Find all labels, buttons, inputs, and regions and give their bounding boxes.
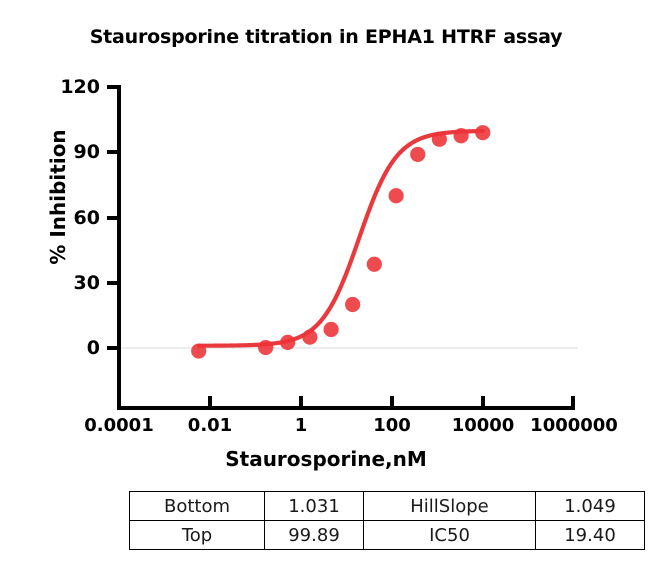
x-tick-1	[299, 396, 303, 407]
x-ticklabel-0.0001: 0.0001	[84, 415, 153, 436]
x-ticklabel-1000000: 1000000	[530, 415, 618, 436]
param-value-bottom: 1.031	[265, 492, 364, 521]
x-ticklabel-1: 1	[295, 415, 308, 436]
x-tick-0.0001	[117, 396, 121, 407]
data-point	[367, 257, 382, 272]
data-point	[454, 128, 469, 143]
y-tick-60	[107, 216, 117, 220]
x-tick-100	[390, 396, 394, 407]
y-tick-30	[107, 281, 117, 285]
fit-parameter-table: Bottom 1.031 HillSlope 1.049 Top 99.89 I…	[129, 491, 645, 550]
x-tick-10000	[481, 396, 485, 407]
param-name-bottom: Bottom	[130, 492, 265, 521]
y-axis-spine	[117, 85, 121, 410]
data-point-group	[191, 125, 490, 359]
table-row: Bottom 1.031 HillSlope 1.049	[130, 492, 645, 521]
x-ticklabel-0.01: 0.01	[188, 415, 232, 436]
data-point	[191, 343, 206, 358]
param-value-hillslope: 1.049	[536, 492, 645, 521]
fit-curve	[199, 131, 483, 346]
x-ticklabel-10000: 10000	[452, 415, 515, 436]
y-tick-120	[107, 85, 117, 89]
data-point	[432, 132, 447, 147]
data-point	[345, 297, 360, 312]
chart-title: Staurosporine titration in EPHA1 HTRF as…	[0, 26, 652, 48]
data-point	[302, 330, 317, 345]
y-axis-title: % Inhibition	[46, 87, 70, 307]
param-name-hillslope: HillSlope	[364, 492, 536, 521]
x-axis-title: Staurosporine,nM	[0, 447, 652, 471]
x-ticklabel-100: 100	[373, 415, 411, 436]
param-value-ic50: 19.40	[536, 521, 645, 550]
x-tick-1000000	[571, 396, 575, 407]
data-point	[389, 188, 404, 203]
data-point	[475, 125, 490, 140]
param-name-ic50: IC50	[364, 521, 536, 550]
parameter-table-wrapper: Bottom 1.031 HillSlope 1.049 Top 99.89 I…	[129, 491, 590, 550]
y-tick-0	[107, 346, 117, 350]
table-row: Top 99.89 IC50 19.40	[130, 521, 645, 550]
chart-figure: Staurosporine titration in EPHA1 HTRF as…	[0, 0, 652, 581]
data-point	[324, 322, 339, 337]
param-name-top: Top	[130, 521, 265, 550]
zero-gridline	[121, 347, 578, 349]
x-tick-0.01	[208, 396, 212, 407]
data-point	[410, 147, 425, 162]
y-tick-90	[107, 150, 117, 154]
y-ticklabel-0: 0	[46, 337, 100, 359]
x-axis-spine	[117, 406, 575, 410]
param-value-top: 99.89	[265, 521, 364, 550]
